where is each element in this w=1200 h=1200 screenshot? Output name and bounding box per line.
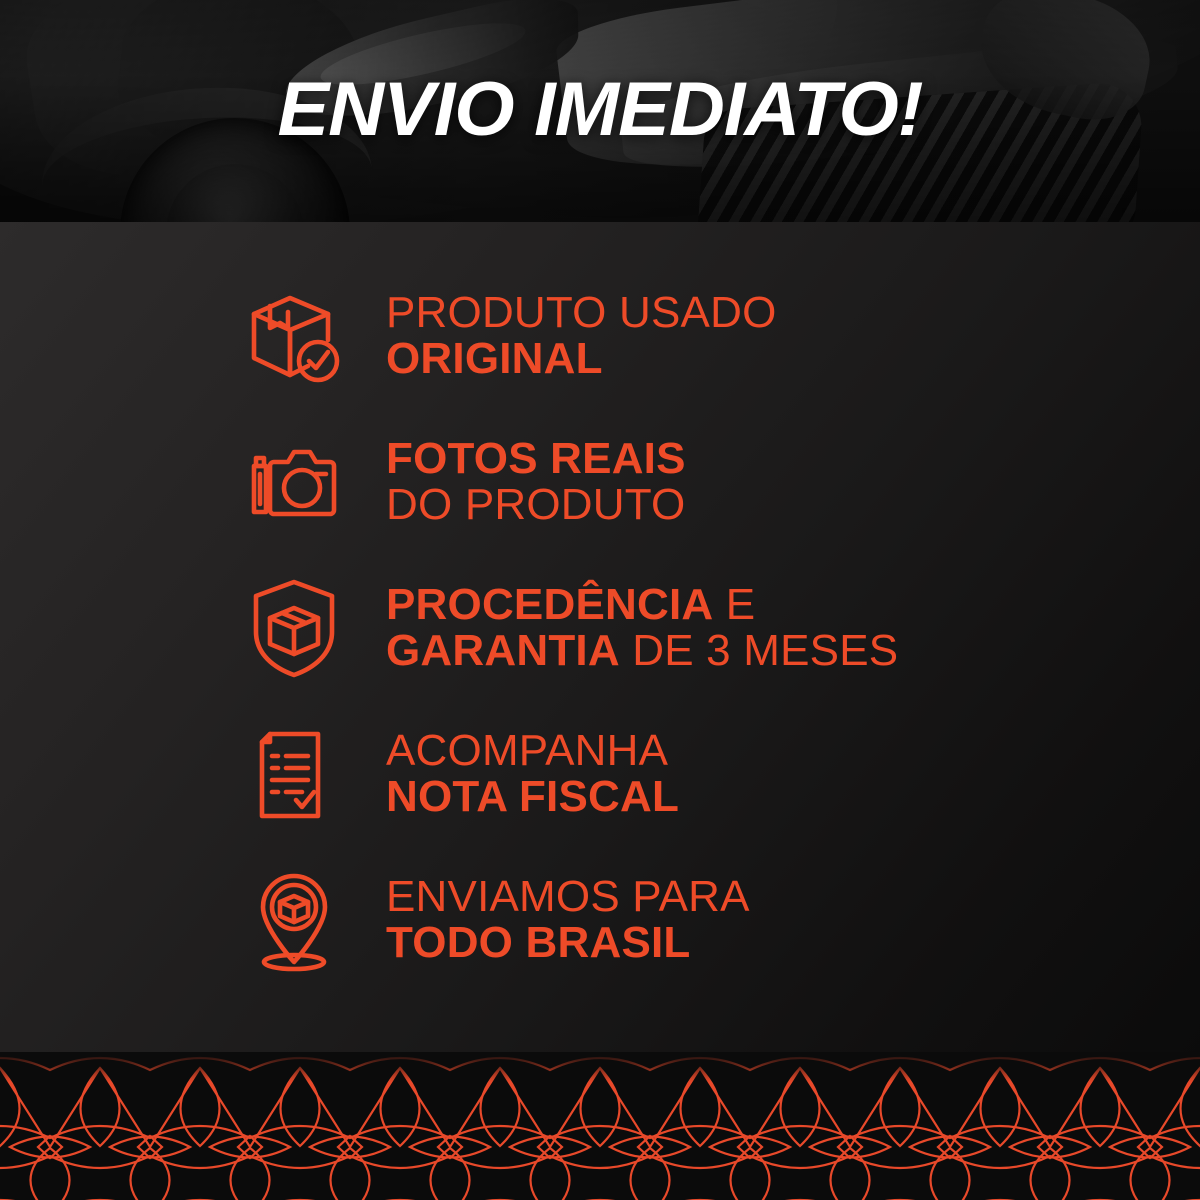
features-list: PRODUTO USADO ORIGINAL [236,274,1096,982]
feature-line-1: PROCEDÊNCIA E [386,582,898,628]
feature-text: FOTOS REAIS DO PRODUTO [386,436,686,528]
package-check-icon [236,278,352,394]
feature-text: PRODUTO USADO ORIGINAL [386,290,777,382]
feature-line-2: NOTA FISCAL [386,774,679,820]
feature-line-1-bold: PROCEDÊNCIA [386,580,713,629]
feature-item-fotos-reais: FOTOS REAIS DO PRODUTO [236,420,1096,544]
feature-line-2-bold: GARANTIA [386,626,620,675]
feature-line-1: ENVIAMOS PARA [386,874,750,920]
shield-box-icon [236,570,352,686]
feature-line-1: ACOMPANHA [386,728,679,774]
feature-item-garantia: PROCEDÊNCIA E GARANTIA DE 3 MESES [236,566,1096,690]
feature-line-2: ORIGINAL [386,336,777,382]
location-pin-box-icon [236,862,352,978]
invoice-document-icon [236,716,352,832]
feature-text: PROCEDÊNCIA E GARANTIA DE 3 MESES [386,582,898,674]
camera-icon [236,424,352,540]
feature-item-produto-usado: PRODUTO USADO ORIGINAL [236,274,1096,398]
feature-line-2: GARANTIA DE 3 MESES [386,628,898,674]
feature-line-1: FOTOS REAIS [386,436,686,482]
feature-line-2: TODO BRASIL [386,920,750,966]
page-title: ENVIO IMEDIATO! [0,72,1200,148]
feature-line-1: PRODUTO USADO [386,290,777,336]
feature-line-2: DO PRODUTO [386,482,686,528]
header-banner: ENVIO IMEDIATO! [0,0,1200,222]
feature-line-1-rest: E [713,580,755,629]
feature-line-2-rest: DE 3 MESES [620,626,899,675]
promo-poster: ENVIO IMEDIATO! PROD [0,0,1200,1200]
features-panel: PRODUTO USADO ORIGINAL [0,222,1200,1065]
feature-item-todo-brasil: ENVIAMOS PARA TODO BRASIL [236,858,1096,982]
feature-text: ACOMPANHA NOTA FISCAL [386,728,679,820]
feature-item-nota-fiscal: ACOMPANHA NOTA FISCAL [236,712,1096,836]
floral-lattice-border-icon [0,1052,1200,1200]
feature-text: ENVIAMOS PARA TODO BRASIL [386,874,750,966]
